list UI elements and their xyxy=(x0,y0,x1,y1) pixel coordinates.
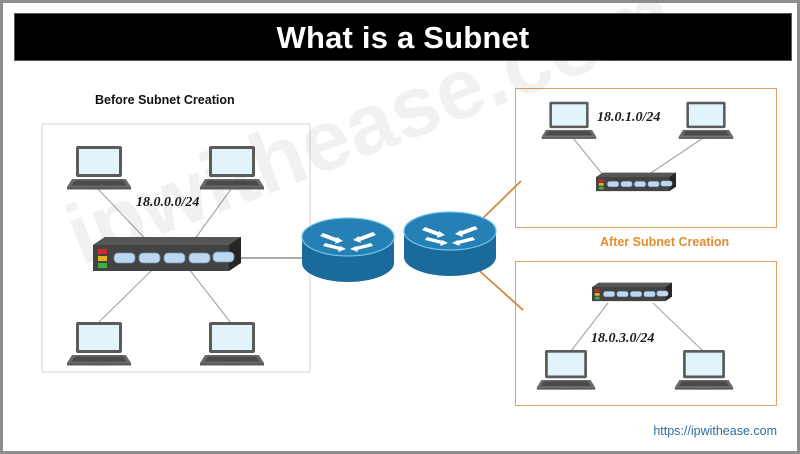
label-before-subnet-creation: Before Subnet Creation xyxy=(95,93,235,107)
laptop-icon xyxy=(65,319,133,369)
slide-canvas: What is a Subnet ipwithease.com Before S… xyxy=(0,0,800,454)
switch-icon xyxy=(91,235,243,277)
laptop-icon xyxy=(198,143,266,193)
page-title: What is a Subnet xyxy=(277,22,530,53)
switch-icon xyxy=(591,281,673,305)
laptop-icon xyxy=(198,319,266,369)
footer-url[interactable]: https://ipwithease.com xyxy=(653,424,777,438)
title-banner: What is a Subnet xyxy=(14,13,792,61)
laptop-icon xyxy=(673,347,735,393)
ip-label-subnet-bottom: 18.0.3.0/24 xyxy=(591,331,654,347)
laptop-icon xyxy=(65,143,133,193)
router-icon xyxy=(401,205,499,283)
laptop-icon xyxy=(540,99,598,142)
ip-label-before: 18.0.0.0/24 xyxy=(136,195,199,211)
laptop-icon xyxy=(677,99,735,142)
laptop-icon xyxy=(535,347,597,393)
ip-label-subnet-top: 18.0.1.0/24 xyxy=(597,110,660,126)
router-icon xyxy=(299,211,397,289)
switch-icon xyxy=(595,171,677,195)
label-after-subnet-creation: After Subnet Creation xyxy=(600,235,729,249)
